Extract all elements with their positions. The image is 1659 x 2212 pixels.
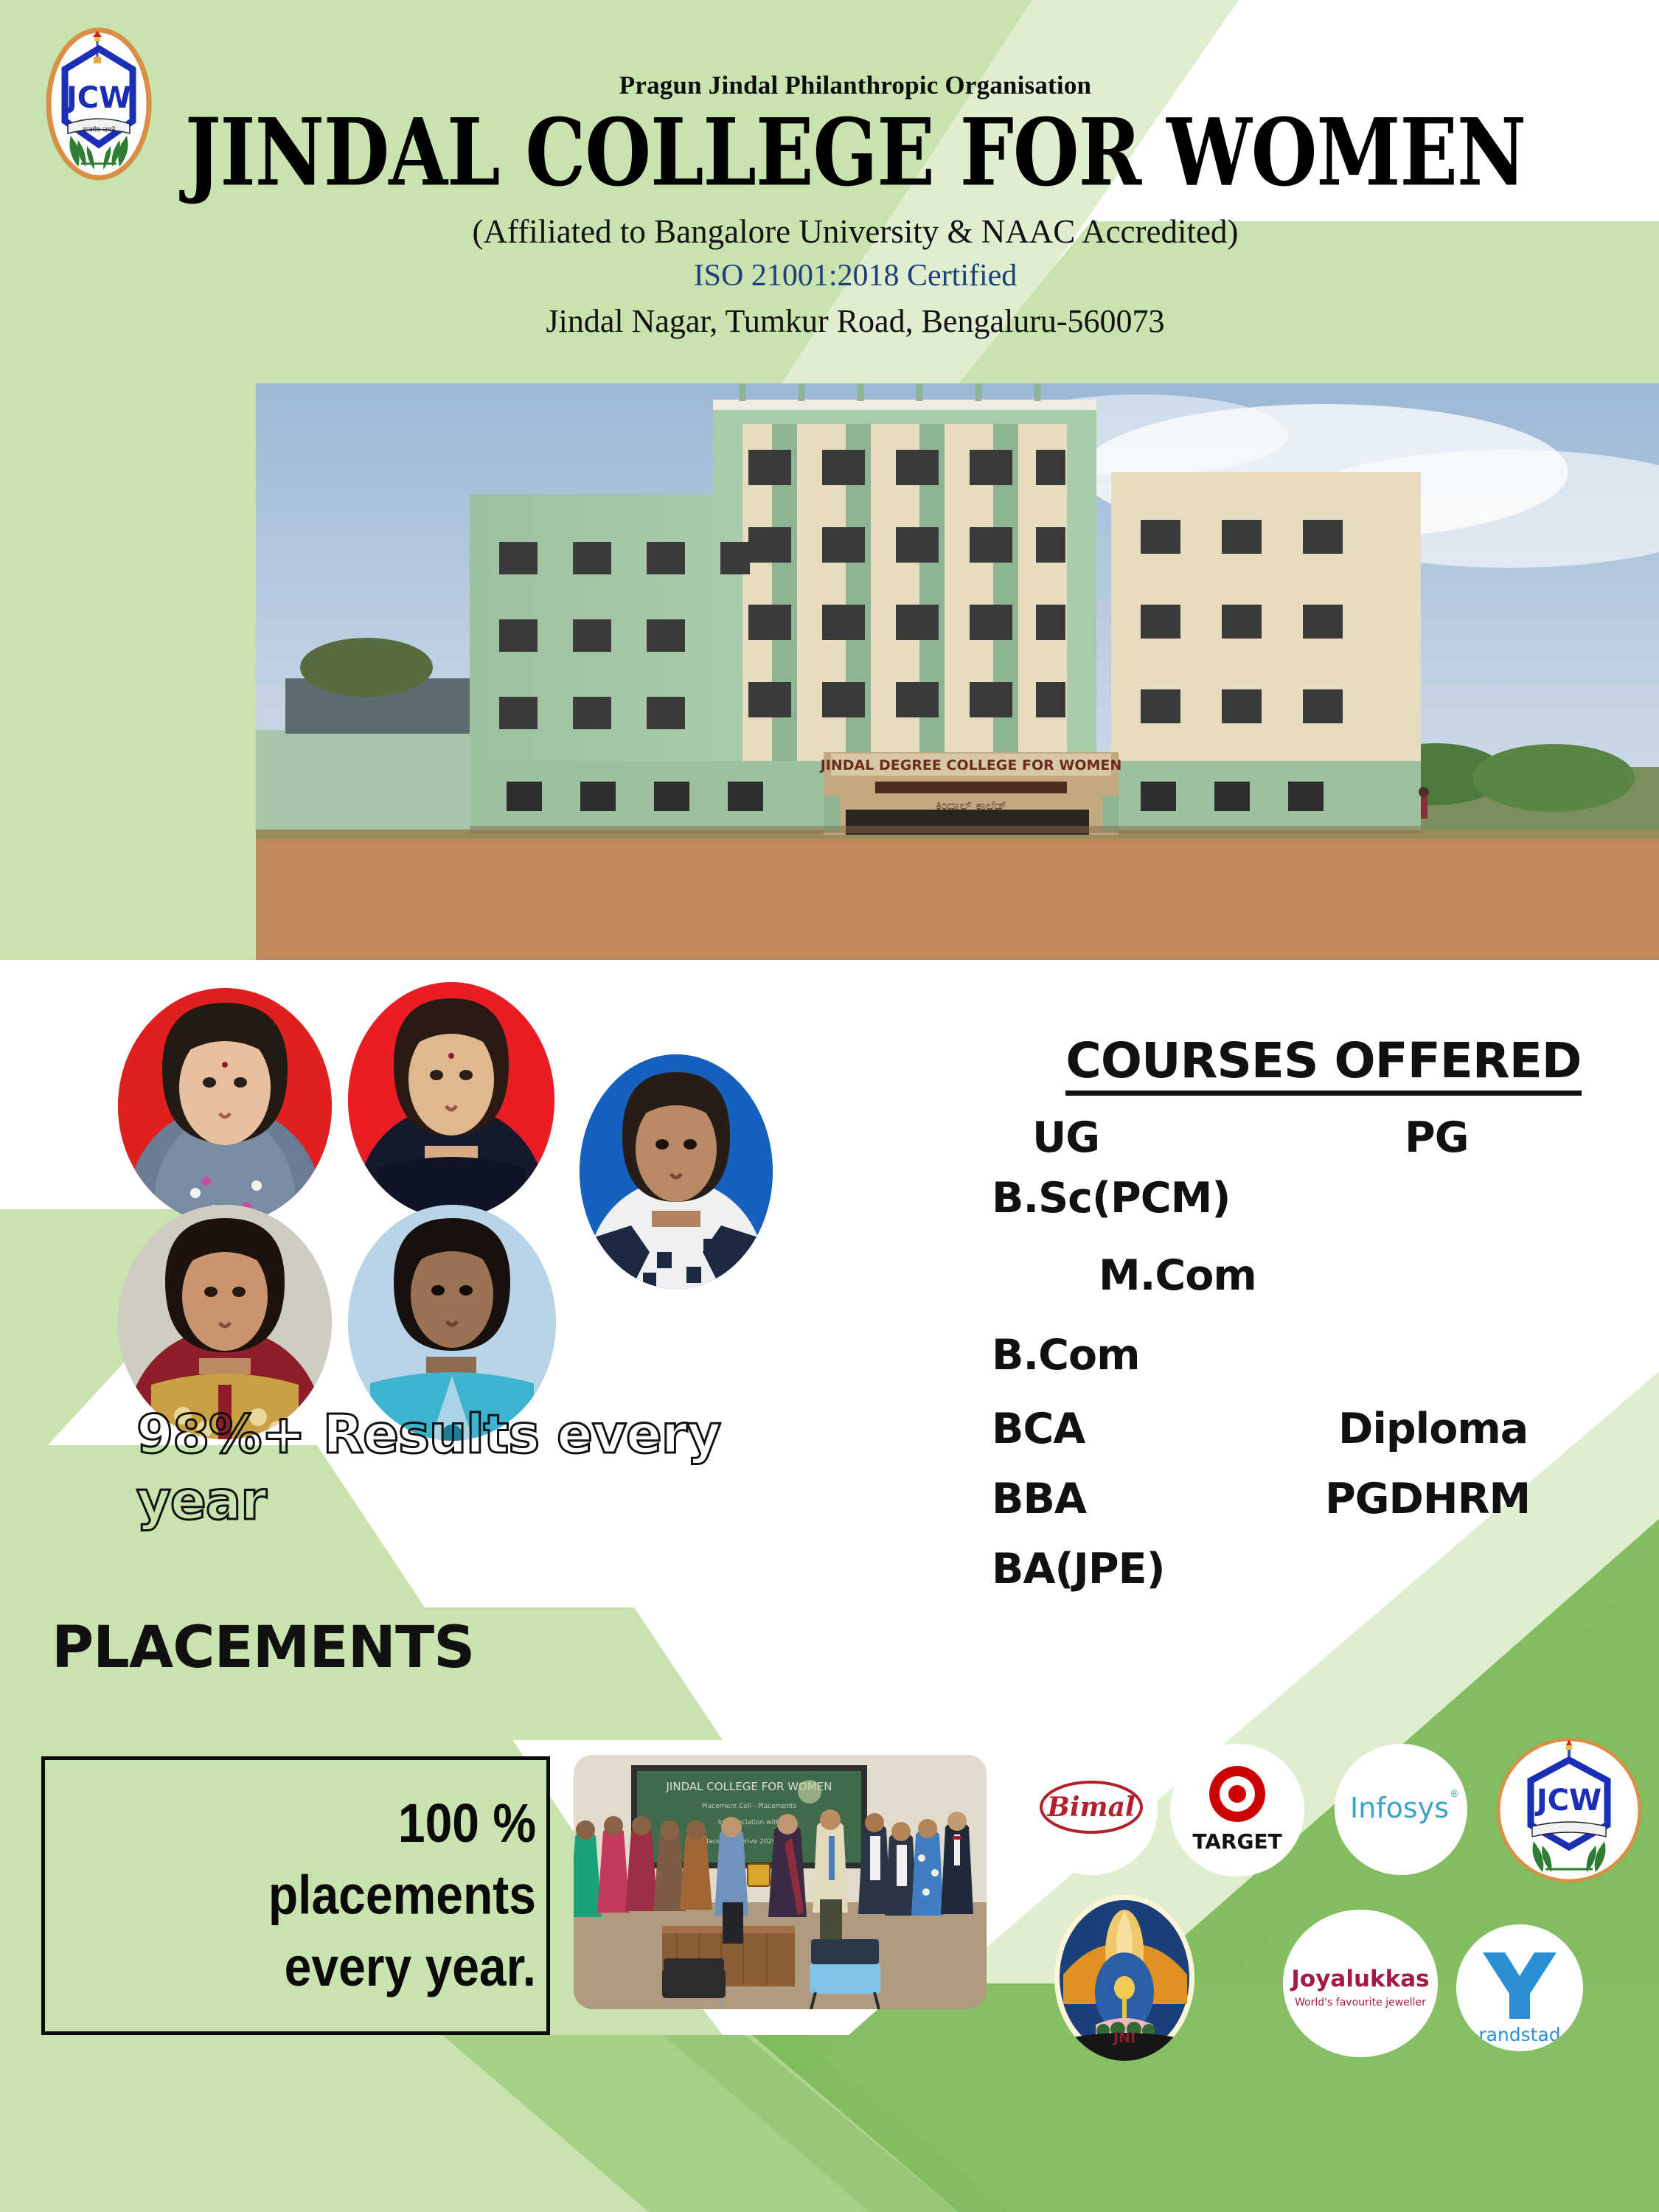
- logo-joyalukkas: Joyalukkas World's favourite jeweller: [1283, 1910, 1438, 2057]
- pg-column-heading: PG: [1405, 1113, 1469, 1162]
- list-item: [348, 982, 554, 1218]
- placements-stat-line-1: 100 %: [268, 1788, 536, 1860]
- student-photos-group: [111, 988, 892, 1401]
- course-ug-0: B.Sc(PCM): [992, 1174, 1230, 1222]
- svg-text:Placement Cell - Placements: Placement Cell - Placements: [702, 1803, 797, 1810]
- logo-jni: JNI: [1054, 1895, 1194, 2061]
- logo-jcw: JCW: [1497, 1738, 1641, 1882]
- page-title: JINDAL COLLEGE FOR WOMEN: [184, 105, 1526, 202]
- placements-stat-line-2: placements: [268, 1860, 536, 1932]
- placements-stat-box: 100 % placements every year.: [41, 1756, 550, 2035]
- title-block: Pragun Jindal Philanthropic Organisation…: [184, 71, 1526, 340]
- course-ug-3: BBA: [992, 1475, 1086, 1523]
- logo-randstad-label: randstad: [1478, 2024, 1560, 2045]
- logo-bimal-label: Bimal: [1046, 1792, 1135, 1823]
- svg-text:JCW: JCW: [64, 81, 131, 115]
- placement-drive-photo: JINDAL COLLEGE FOR WOMEN Placement Cell …: [574, 1755, 987, 2009]
- svg-text:®: ®: [1450, 1789, 1459, 1800]
- logo-joyalukkas-tagline: World's favourite jeweller: [1295, 1997, 1426, 2008]
- organisation-name: Pragun Jindal Philanthropic Organisation: [184, 71, 1526, 100]
- list-item: [118, 988, 332, 1224]
- poster-header: JCW सत्यमेव जयते Pragun Jindal Philanthr…: [0, 0, 1659, 383]
- list-item: [580, 1054, 773, 1289]
- logo-jcw-label: JCW: [1534, 1784, 1601, 1818]
- placements-stat-line-3: every year.: [268, 1932, 536, 2004]
- jcw-logo: JCW सत्यमेव जयते: [46, 27, 153, 181]
- campus-building-photo: JINDAL DEGREE COLLEGE FOR WOMEN ಕಿಂದಾಲ್ …: [256, 383, 1659, 960]
- address-line: Jindal Nagar, Tumkur Road, Bengaluru-560…: [184, 302, 1526, 340]
- logo-target-label: TARGET: [1192, 1829, 1281, 1854]
- course-ug-4: BA(JPE): [992, 1545, 1165, 1593]
- affiliation-line: (Affiliated to Bangalore University & NA…: [184, 212, 1526, 251]
- logo-randstad: randstad: [1456, 1924, 1583, 2051]
- logo-jni-label: JNI: [1112, 2030, 1135, 2046]
- placements-heading: PLACEMENTS: [52, 1615, 474, 1681]
- logo-infosys: Infosys ®: [1335, 1744, 1467, 1875]
- course-ug-2: BCA: [992, 1405, 1085, 1453]
- recruiter-logos-group: Bimal TARGET Infosys ®: [1025, 1744, 1659, 2061]
- logo-infosys-label: Infosys: [1350, 1792, 1449, 1824]
- ug-column-heading: UG: [1032, 1113, 1099, 1162]
- logo-bimal: Bimal: [1025, 1744, 1158, 1875]
- course-ug-1: B.Com: [992, 1331, 1139, 1380]
- iso-certification-line: ISO 21001:2018 Certified: [184, 258, 1526, 293]
- course-pg-2: PGDHRM: [1325, 1475, 1530, 1523]
- course-pg-1: Diploma: [1338, 1405, 1528, 1453]
- poster-root: JCW सत्यमेव जयते Pragun Jindal Philanthr…: [0, 0, 1659, 2212]
- courses-offered-title: COURSES OFFERED: [1065, 1032, 1581, 1096]
- logo-joyalukkas-label: Joyalukkas: [1290, 1966, 1429, 1992]
- results-headline: 98%+ Results every year: [136, 1401, 859, 1534]
- building-signboard-text: JINDAL DEGREE COLLEGE FOR WOMEN: [819, 757, 1122, 773]
- courses-offered-section: COURSES OFFERED UG PG B.Sc(PCM) M.Com B.…: [992, 1032, 1655, 1659]
- course-pg-0: M.Com: [1099, 1251, 1256, 1300]
- svg-text:सत्यमेव जयते: सत्यमेव जयते: [83, 125, 116, 134]
- logo-target: TARGET: [1170, 1744, 1304, 1877]
